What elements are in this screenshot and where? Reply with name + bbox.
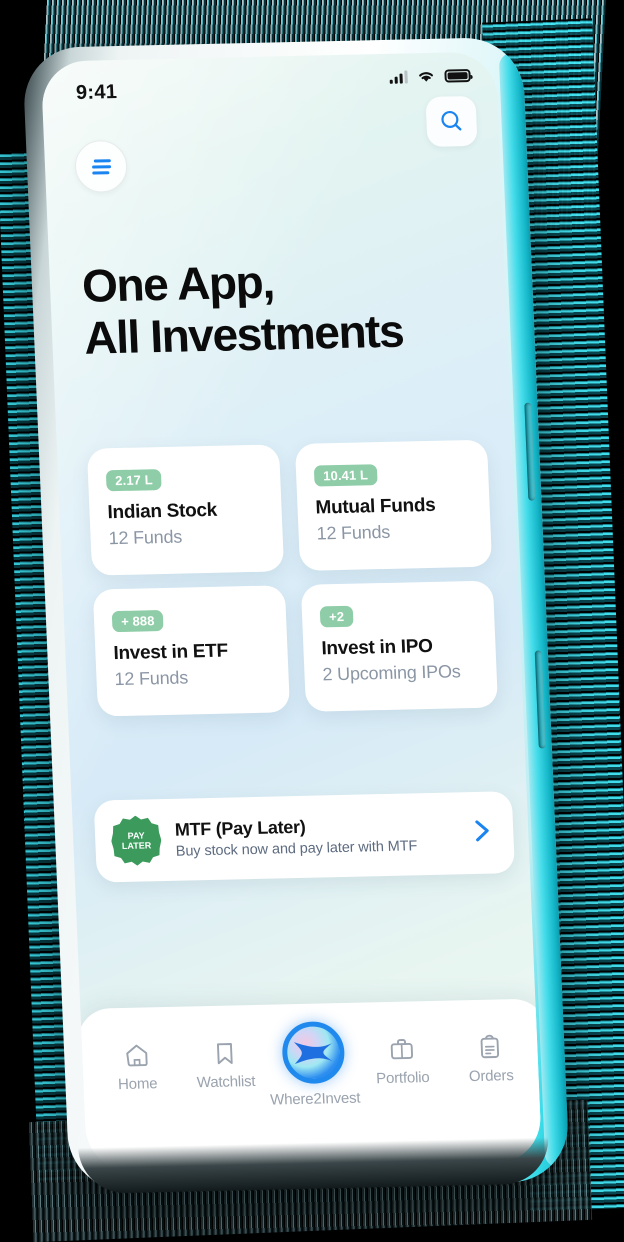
hero-line-1: One App,	[81, 252, 483, 313]
chevron-right-icon	[471, 815, 494, 845]
card-invest-in-etf[interactable]: + 888 Invest in ETF 12 Funds	[93, 585, 290, 716]
card-badge: + 888	[112, 610, 164, 632]
nav-item-orders[interactable]: Orders	[449, 1033, 531, 1086]
wifi-icon	[416, 69, 436, 83]
status-bar-time: 9:41	[75, 81, 117, 105]
card-title: Invest in IPO	[321, 635, 478, 661]
phone-body: 9:41	[22, 37, 570, 1192]
menu-bar-1	[93, 159, 110, 162]
investment-card-grid: 2.17 L Indian Stock 12 Funds 10.41 L Mut…	[87, 440, 498, 717]
card-badge: +2	[320, 606, 354, 628]
card-title: Invest in ETF	[113, 640, 270, 666]
card-subtitle: 12 Funds	[114, 666, 271, 691]
card-subtitle: 2 Upcoming IPOs	[322, 661, 479, 686]
nav-item-home[interactable]: Home	[96, 1041, 178, 1094]
nav-label: Where2Invest	[270, 1090, 361, 1109]
where2invest-mark	[290, 1035, 337, 1070]
battery-full-icon	[444, 69, 471, 83]
card-badge: 2.17 L	[106, 469, 162, 491]
card-badge: 10.41 L	[314, 464, 378, 486]
card-subtitle: 12 Funds	[108, 525, 265, 550]
nav-label: Portfolio	[376, 1069, 430, 1087]
nav-item-watchlist[interactable]: Watchlist	[184, 1039, 266, 1092]
card-subtitle: 12 Funds	[316, 520, 473, 545]
nav-item-portfolio[interactable]: Portfolio	[361, 1035, 443, 1088]
search-icon	[438, 108, 465, 135]
mtf-pay-later-banner[interactable]: PAY LATER MTF (Pay Later) Buy stock now …	[94, 791, 515, 882]
clipboard-icon	[476, 1033, 504, 1061]
home-icon	[122, 1041, 150, 1069]
menu-bar-2	[92, 165, 111, 168]
search-button[interactable]	[425, 96, 477, 147]
card-title: Mutual Funds	[315, 494, 472, 520]
nav-label: Orders	[469, 1067, 514, 1085]
mtf-title: MTF (Pay Later)	[174, 813, 457, 840]
bookmark-icon	[211, 1039, 239, 1067]
status-bar-icons	[389, 68, 471, 84]
card-indian-stock[interactable]: 2.17 L Indian Stock 12 Funds	[87, 444, 284, 575]
mtf-subtitle: Buy stock now and pay later with MTF	[175, 837, 458, 859]
hero-heading: One App, All Investments	[81, 252, 485, 365]
card-invest-in-ipo[interactable]: +2 Invest in IPO 2 Upcoming IPOs	[301, 581, 498, 712]
where2invest-logo-icon	[281, 1021, 346, 1084]
phone-mockup: 9:41	[22, 37, 570, 1192]
nav-label: Home	[118, 1075, 158, 1093]
nav-label: Watchlist	[196, 1073, 255, 1091]
mtf-chevron-button[interactable]	[471, 815, 498, 851]
pay-later-badge-line-2: LATER	[122, 840, 152, 851]
card-mutual-funds[interactable]: 10.41 L Mutual Funds 12 Funds	[295, 440, 492, 571]
signal-bars-icon	[389, 70, 408, 83]
card-title: Indian Stock	[107, 499, 264, 525]
hero-line-2: All Investments	[83, 304, 485, 365]
pay-later-badge-line-1: PAY	[127, 830, 144, 841]
briefcase-icon	[388, 1035, 416, 1063]
pay-later-badge-icon: PAY LATER	[110, 815, 162, 866]
nav-item-where2invest[interactable]: Where2Invest	[272, 1021, 356, 1109]
page-title: One App, All Investments	[81, 252, 485, 365]
hamburger-menu-icon[interactable]	[74, 140, 128, 193]
phone-screen: 9:41	[41, 51, 543, 1172]
menu-bar-3	[92, 171, 109, 174]
mtf-text-block: MTF (Pay Later) Buy stock now and pay la…	[174, 813, 458, 859]
